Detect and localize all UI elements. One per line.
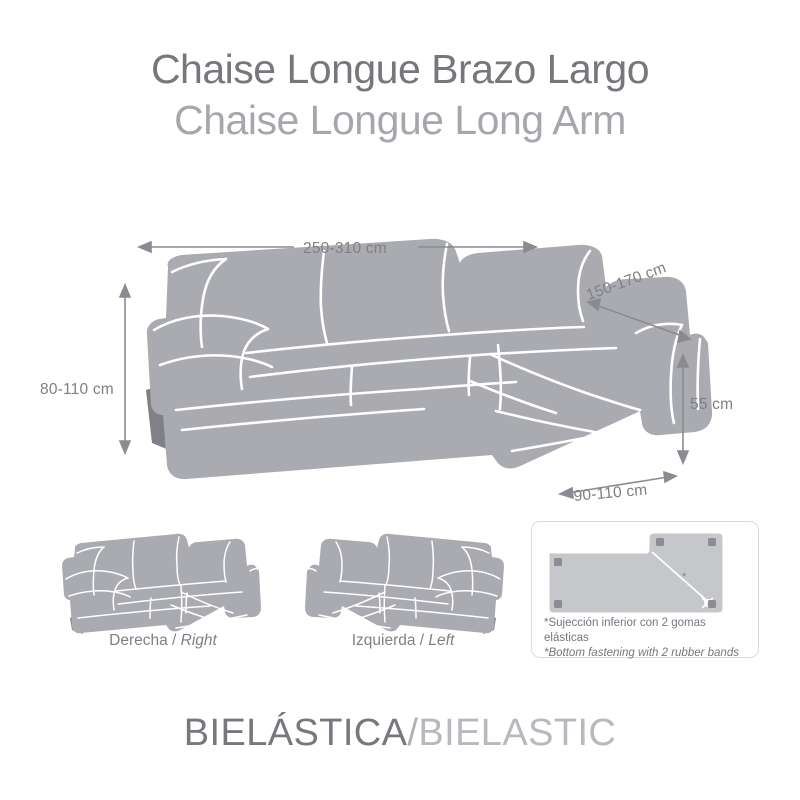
- variant-label-right: Derecha / Right: [48, 632, 278, 650]
- variant-label-left-sep: /: [420, 632, 424, 649]
- fastening-info-box: * *Sujección inferior con 2 gomas elásti…: [531, 521, 759, 658]
- anchor-square: [708, 600, 716, 608]
- brand-footer: BIELÁSTICA/BIELASTIC: [0, 712, 800, 755]
- variant-label-left: Izquierda / Left: [288, 632, 518, 650]
- title-english: Chaise Longue Long Arm: [0, 94, 800, 146]
- brand-english: BIELASTIC: [418, 712, 616, 754]
- anchor-square: [656, 538, 664, 546]
- brand-separator: /: [407, 712, 418, 754]
- brand-spanish: BIELÁSTICA: [184, 712, 408, 754]
- dimension-width-label: 250-310 cm: [303, 240, 387, 258]
- fastening-note-english: *Bottom fastening with 2 rubber bands: [544, 646, 750, 661]
- variant-label-left-en: Left: [428, 632, 454, 649]
- anchor-square: [554, 600, 562, 608]
- fastening-notes: *Sujección inferior con 2 gomas elástica…: [544, 616, 750, 661]
- asterisk-marker: *: [682, 571, 687, 583]
- product-spec-sheet: Chaise Longue Brazo Largo Chaise Longue …: [0, 0, 800, 800]
- footprint-diagram: *: [532, 528, 758, 618]
- dimension-height-label: 80-110 cm: [40, 381, 114, 399]
- title-spanish: Chaise Longue Brazo Largo: [0, 44, 800, 94]
- variant-illustration-right: [48, 522, 278, 642]
- anchor-square: [554, 558, 562, 566]
- page-title: Chaise Longue Brazo Largo Chaise Longue …: [0, 44, 800, 146]
- variant-label-left-es: Izquierda: [352, 632, 416, 649]
- variant-illustration-left: [288, 522, 518, 642]
- variant-label-right-en: Right: [181, 632, 217, 649]
- fastening-note-spanish: *Sujección inferior con 2 gomas elástica…: [544, 616, 750, 646]
- variant-label-right-sep: /: [172, 632, 176, 649]
- variant-label-right-es: Derecha: [109, 632, 168, 649]
- dimension-chaise-height-label: 55 cm: [690, 396, 733, 414]
- anchor-square: [708, 538, 716, 546]
- main-sofa-illustration: [0, 215, 800, 520]
